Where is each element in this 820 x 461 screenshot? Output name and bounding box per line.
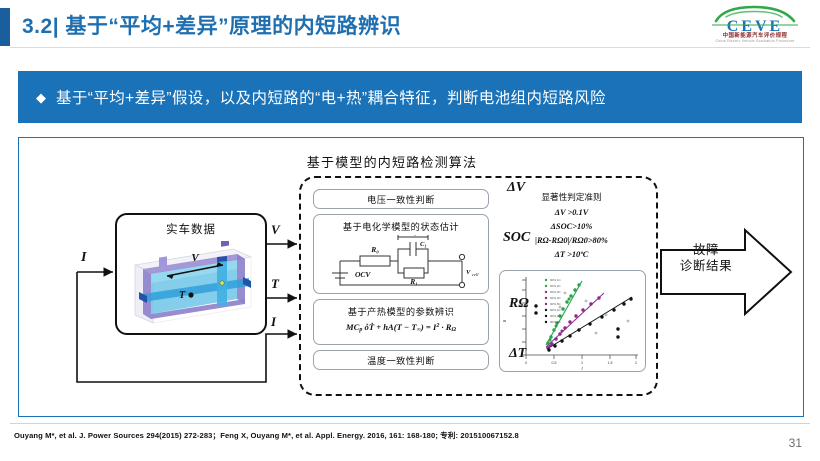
battery-cell-illustration: V T bbox=[125, 241, 257, 327]
result-line-2: 诊断结果 bbox=[667, 258, 745, 274]
diagram-frame: I 实车数据 bbox=[18, 137, 804, 417]
result-line-1: 故障 bbox=[667, 242, 745, 258]
signal-label-dv: ΔV bbox=[507, 180, 525, 196]
svg-text:2: 2 bbox=[635, 361, 637, 365]
output-temperature-label: T bbox=[271, 276, 279, 292]
svg-text:60%,3C: 60%,3C bbox=[550, 290, 562, 294]
real-vehicle-data-box: 实车数据 bbox=[115, 213, 267, 335]
signal-label-soc: SOC bbox=[503, 230, 530, 246]
algorithm-title: 基于模型的内短路检测算法 bbox=[267, 152, 517, 171]
reference-citations: Ouyang M*, et al. J. Power Sources 294(2… bbox=[14, 430, 694, 441]
svg-text:OCV: OCV bbox=[355, 270, 371, 279]
block-voltage-consistency: 电压一致性判断 bbox=[313, 189, 489, 209]
signal-label-dt: ΔT bbox=[509, 346, 526, 362]
model-based-detection-box: 电压一致性判断 基于电化学模型的状态估计 bbox=[299, 176, 658, 396]
svg-text:60%,5C: 60%,5C bbox=[550, 302, 562, 306]
page-number: 31 bbox=[789, 436, 802, 450]
logo-chinese-name: 中国新能源汽车评价规程 bbox=[702, 31, 808, 39]
svg-text:90%,3C: 90%,3C bbox=[550, 320, 562, 324]
bullet-diamond-icon: ◆ bbox=[36, 91, 46, 104]
svg-text:0.5: 0.5 bbox=[552, 361, 557, 365]
block-temperature-consistency-label: 温度一致性判断 bbox=[314, 351, 488, 371]
page-title: 3.2| 基于“平均+差异”原理的内短路辨识 bbox=[22, 10, 401, 40]
criteria-rule-dt: ΔT >10ºC bbox=[499, 250, 644, 259]
svg-text:1: 1 bbox=[581, 361, 583, 365]
slide-root: 3.2| 基于“平均+差异”原理的内短路辨识 CEVE 中国新能源汽车评价规程 … bbox=[0, 0, 820, 461]
signal-label-romega: RΩ bbox=[509, 296, 529, 312]
footer-divider bbox=[10, 423, 810, 424]
svg-text:I: I bbox=[580, 366, 583, 371]
logo-english-name: China Electric Vehicle Evaluation Proced… bbox=[702, 39, 808, 43]
header-accent-bar bbox=[0, 8, 10, 46]
svg-text:R₀: R₀ bbox=[370, 245, 379, 254]
block-voltage-consistency-label: 电压一致性判断 bbox=[314, 190, 488, 210]
fault-diagnosis-result-text: 故障 诊断结果 bbox=[667, 242, 745, 274]
svg-text:60%,1C: 60%,1C bbox=[550, 278, 562, 282]
svg-text:V: V bbox=[466, 269, 471, 276]
svg-text:60%,4C: 60%,4C bbox=[550, 296, 562, 300]
equivalent-circuit-diagram: R₀ R₁ C₁ U₁ OCV V cell bbox=[324, 235, 480, 291]
real-vehicle-data-caption: 实车数据 bbox=[117, 221, 265, 237]
banner-text: 基于“平均+差异”假设，以及内短路的“电+热”耦合特征，判断电池组内短路风险 bbox=[56, 86, 606, 108]
svg-text:R₁: R₁ bbox=[409, 277, 418, 286]
block-heat-generation-model: 基于产热模型的参数辨识 MCp ỗṪ + hA(T − T∞) = I2 · … bbox=[313, 299, 489, 345]
ceve-logo: CEVE 中国新能源汽车评价规程 China Electric Vehicle … bbox=[702, 4, 808, 46]
block-temperature-consistency: 温度一致性判断 bbox=[313, 350, 489, 370]
input-current-label: I bbox=[81, 250, 86, 266]
criteria-rule-dv: ΔV >0.1V bbox=[499, 208, 644, 217]
block-electrochemical-model: 基于电化学模型的状态估计 bbox=[313, 214, 489, 294]
output-current-label: I bbox=[271, 314, 276, 330]
svg-text:1.5: 1.5 bbox=[608, 361, 613, 365]
key-point-banner: ◆ 基于“平均+差异”假设，以及内短路的“电+热”耦合特征，判断电池组内短路风险 bbox=[18, 71, 802, 123]
svg-text:R: R bbox=[502, 319, 507, 323]
svg-text:T: T bbox=[179, 290, 186, 301]
header-divider bbox=[10, 47, 810, 48]
significance-criteria-box: 显著性判定准则 ΔV >0.1V ΔSOC>10% |RΩ-RΩ0|/RΩ0>8… bbox=[499, 189, 644, 269]
svg-text:cell: cell bbox=[472, 272, 479, 277]
logo-graphic: CEVE bbox=[702, 4, 808, 34]
svg-text:90%,1C: 90%,1C bbox=[550, 308, 562, 312]
output-voltage-label: V bbox=[271, 222, 280, 238]
slide-header: 3.2| 基于“平均+差异”原理的内短路辨识 CEVE 中国新能源汽车评价规程 … bbox=[0, 0, 820, 47]
block-heat-generation-model-label: 基于产热模型的参数辨识 bbox=[314, 304, 488, 318]
svg-text:60%,2C: 60%,2C bbox=[550, 284, 562, 288]
thermal-formula: MCp ỗṪ + hA(T − T∞) = I2 · RΩ bbox=[314, 322, 488, 333]
svg-text:C₁: C₁ bbox=[420, 241, 427, 248]
block-electrochemical-model-label: 基于电化学模型的状态估计 bbox=[314, 219, 488, 233]
svg-text:90%,2C: 90%,2C bbox=[550, 314, 562, 318]
svg-text:U₁: U₁ bbox=[410, 235, 417, 236]
